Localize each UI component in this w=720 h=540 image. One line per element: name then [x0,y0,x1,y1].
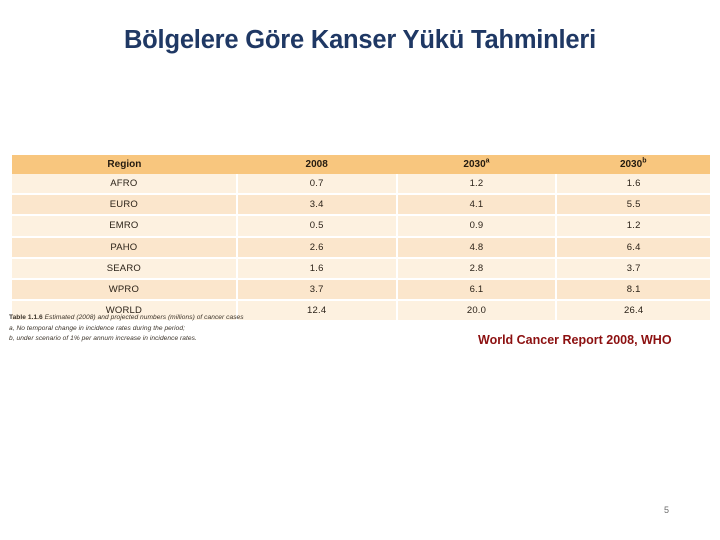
column-header-2030a: 2030a [397,155,557,174]
cell-2030b: 1.2 [556,215,710,236]
cancer-burden-table-container: Region 2008 2030a 2030b AFRO 0.7 1.2 1.6… [12,155,710,320]
cell-2008: 0.5 [237,215,397,236]
cell-region: AFRO [12,174,237,194]
table-row: EURO 3.4 4.1 5.5 [12,194,710,215]
cell-2030b: 26.4 [556,300,710,320]
cell-region: EMRO [12,215,237,236]
cell-region: WPRO [12,279,237,300]
column-header-2030b-label: 2030 [620,159,642,170]
table-body: AFRO 0.7 1.2 1.6 EURO 3.4 4.1 5.5 EMRO 0… [12,174,710,320]
cell-2030b: 5.5 [556,194,710,215]
column-header-2008-label: 2008 [306,159,328,170]
cell-2030b: 8.1 [556,279,710,300]
cell-2030a: 1.2 [397,174,557,194]
table-header: Region 2008 2030a 2030b [12,155,710,174]
footnote-caption: Estimated (2008) and projected numbers (… [45,314,244,321]
cell-2008: 3.4 [237,194,397,215]
cell-2030a: 20.0 [397,300,557,320]
cell-2030a: 0.9 [397,215,557,236]
source-credit: World Cancer Report 2008, WHO [478,333,672,347]
cell-2030b: 3.7 [556,258,710,279]
table-row: PAHO 2.6 4.8 6.4 [12,237,710,258]
cell-2008: 3.7 [237,279,397,300]
footnote-table-label: Table 1.1.6 [9,314,43,321]
footnote-note-b: b, under scenario of 1% per annum increa… [9,334,369,345]
cell-2030a: 6.1 [397,279,557,300]
cell-region: EURO [12,194,237,215]
column-header-2008: 2008 [237,155,397,174]
table-row: SEARO 1.6 2.8 3.7 [12,258,710,279]
table-row: EMRO 0.5 0.9 1.2 [12,215,710,236]
table-footnote: Table 1.1.6 Estimated (2008) and project… [9,313,369,345]
cell-2030b: 1.6 [556,174,710,194]
cell-2030a: 2.8 [397,258,557,279]
cell-region: PAHO [12,237,237,258]
cell-2030a: 4.8 [397,237,557,258]
column-header-2030a-superscript: a [486,158,490,165]
cell-2008: 1.6 [237,258,397,279]
table-header-row: Region 2008 2030a 2030b [12,155,710,174]
table-row: AFRO 0.7 1.2 1.6 [12,174,710,194]
column-header-2030b: 2030b [556,155,710,174]
page-title: Bölgelere Göre Kanser Yükü Tahminleri [0,26,720,55]
column-header-region-label: Region [107,159,141,170]
cell-region: SEARO [12,258,237,279]
table-row: WPRO 3.7 6.1 8.1 [12,279,710,300]
cancer-burden-table: Region 2008 2030a 2030b AFRO 0.7 1.2 1.6… [12,155,710,320]
column-header-2030b-superscript: b [642,158,646,165]
cell-2008: 2.6 [237,237,397,258]
cell-2030a: 4.1 [397,194,557,215]
column-header-2030a-label: 2030 [463,159,485,170]
cell-2030b: 6.4 [556,237,710,258]
footnote-note-a: a, No temporal change in incidence rates… [9,324,369,335]
page-number: 5 [664,505,669,515]
cell-2008: 0.7 [237,174,397,194]
footnote-caption-line: Table 1.1.6 Estimated (2008) and project… [9,313,369,324]
column-header-region: Region [12,155,237,174]
